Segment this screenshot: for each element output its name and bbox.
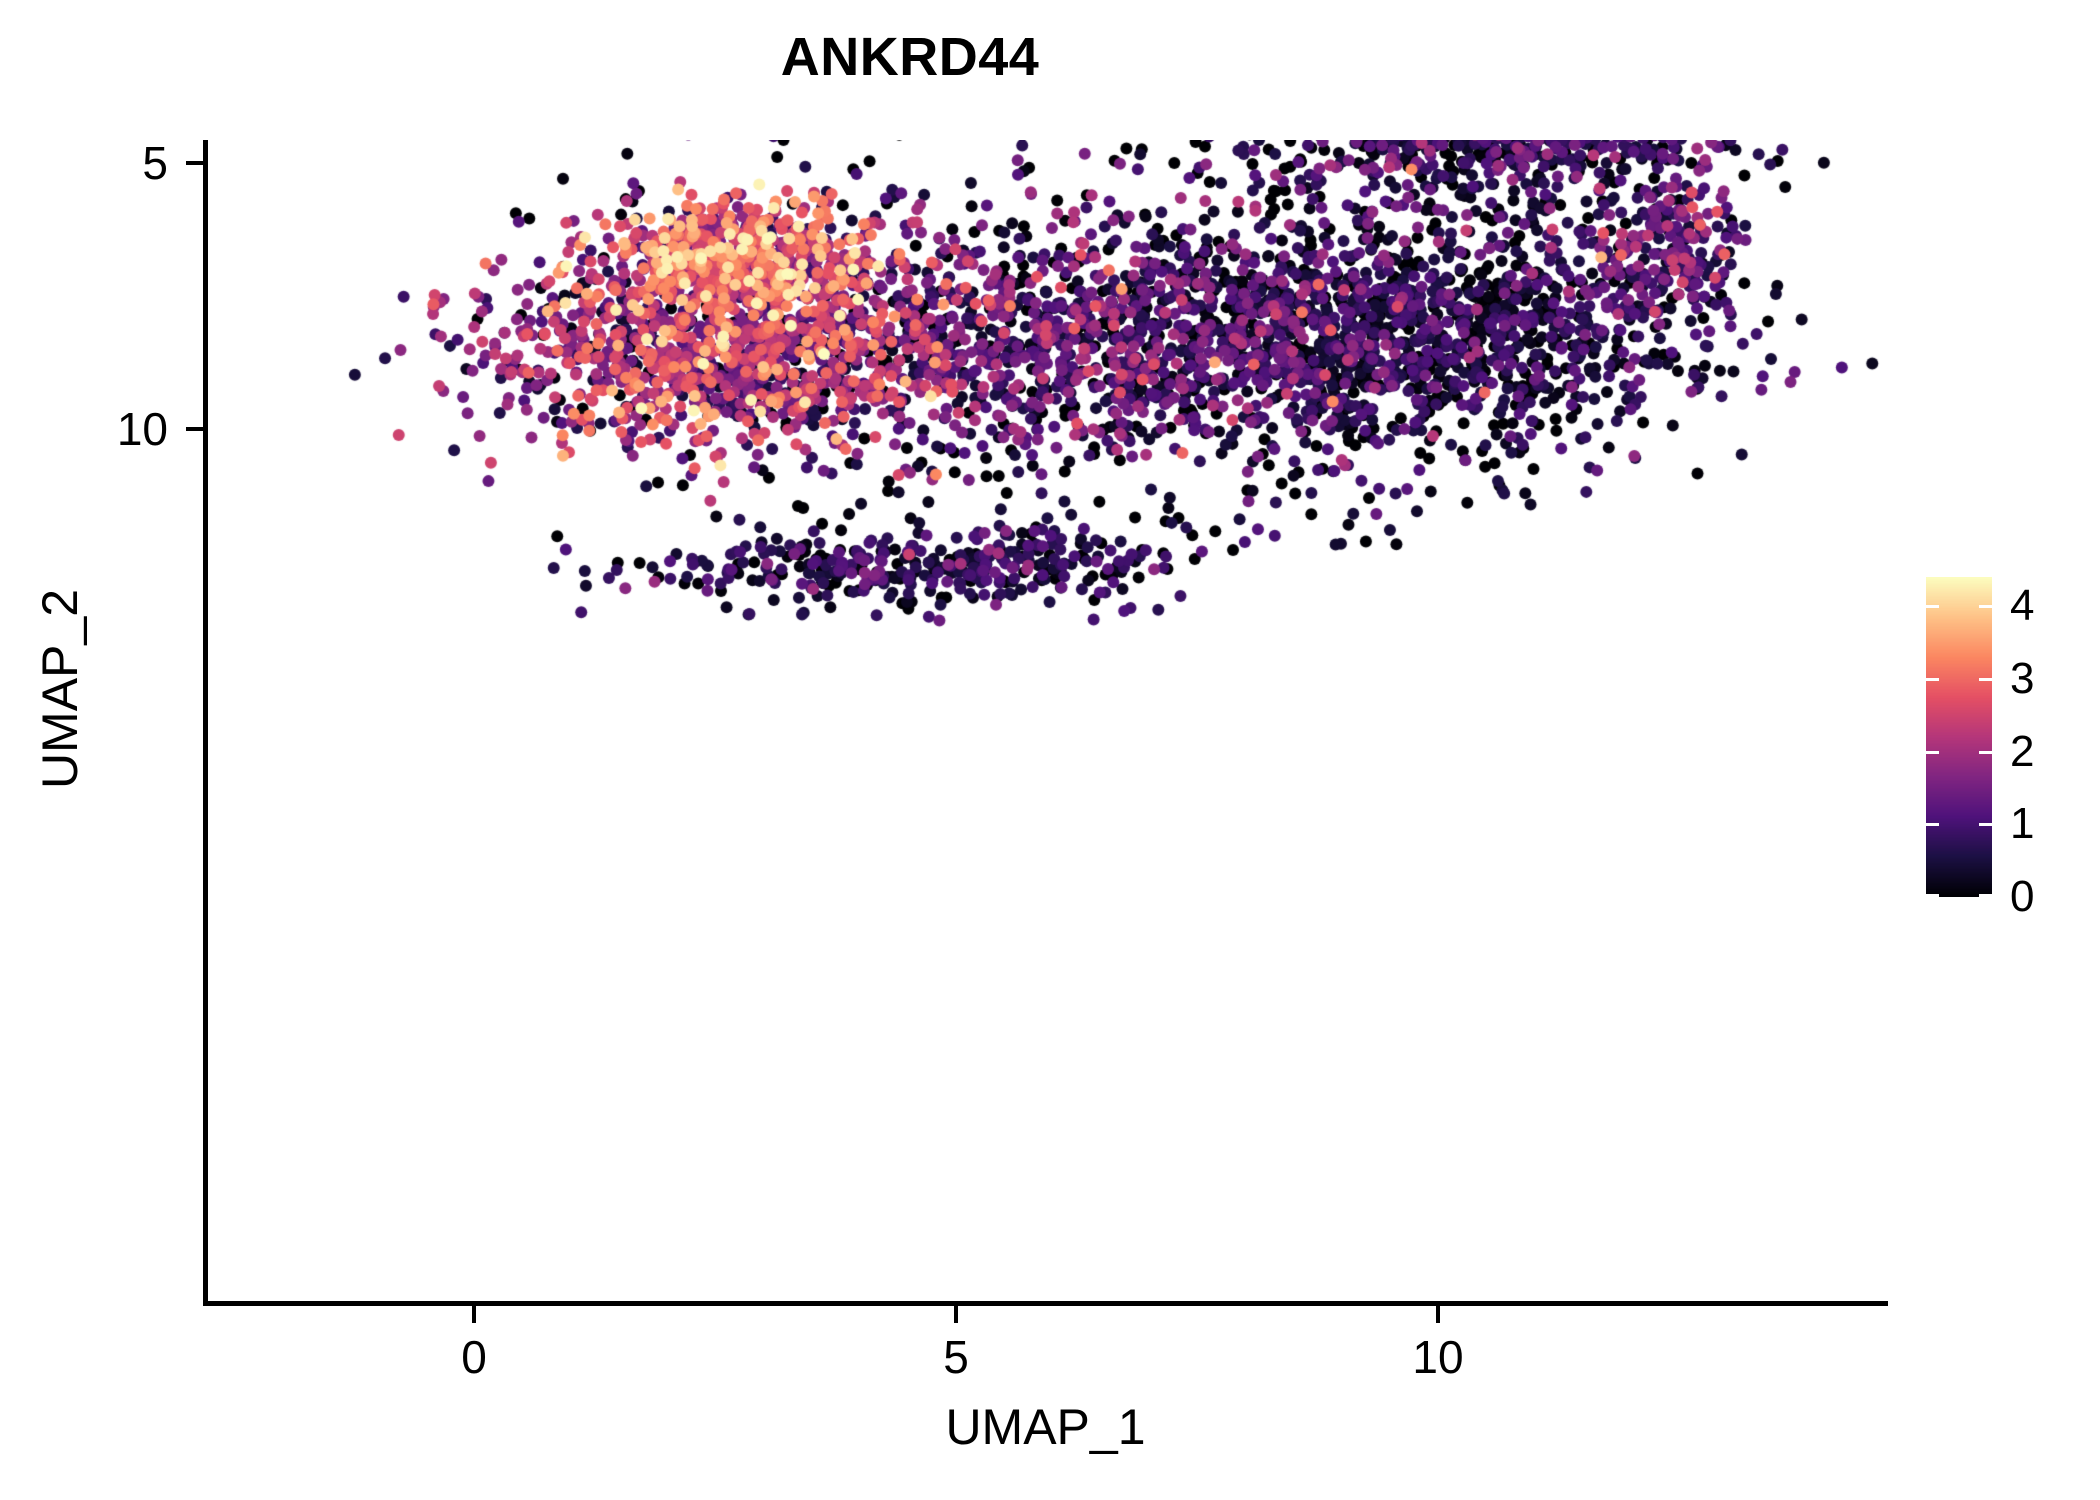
colorbar-tick-4-right: [1979, 605, 1992, 608]
colorbar-tick-4-left: [1926, 605, 1939, 608]
x-axis-line: [203, 1301, 1888, 1306]
colorbar-tick-0-left: [1926, 894, 1939, 897]
feature-plot-figure: ANKRD44 10 5 0 0 5 10 UMAP_1 UMAP_2 4 3 …: [0, 0, 2100, 1500]
colorbar-label-2: 2: [2010, 727, 2034, 777]
y-tick-mark-10: [186, 427, 203, 431]
colorbar-legend: 4 3 2 1 0: [1926, 577, 2076, 907]
colorbar-tick-1-left: [1926, 823, 1939, 826]
colorbar-tick-3-left: [1926, 678, 1939, 681]
colorbar-label-1: 1: [2010, 799, 2034, 849]
y-tick-mark-5: [186, 161, 203, 165]
colorbar-gradient: [1926, 577, 1992, 897]
colorbar-label-4: 4: [2010, 581, 2034, 631]
colorbar-tick-3-right: [1979, 678, 1992, 681]
y-axis-title: UMAP_2: [31, 369, 89, 1009]
scatter-panel: [208, 140, 1888, 1301]
x-axis-title: UMAP_1: [203, 1398, 1888, 1456]
colorbar-label-3: 3: [2010, 654, 2034, 704]
page-title: ANKRD44: [0, 26, 1820, 88]
colorbar-tick-2-left: [1926, 751, 1939, 754]
y-tick-label-5: 5: [0, 136, 168, 190]
x-tick-label-10: 10: [1412, 1330, 1463, 1384]
x-tick-label-5: 5: [943, 1330, 969, 1384]
colorbar-label-0: 0: [2010, 872, 2034, 922]
x-tick-mark-5: [954, 1306, 958, 1323]
colorbar-tick-0-right: [1979, 894, 1992, 897]
scatter-points: [208, 140, 1888, 1301]
x-tick-label-0: 0: [461, 1330, 487, 1384]
colorbar-tick-1-right: [1979, 823, 1992, 826]
x-tick-mark-10: [1436, 1306, 1440, 1323]
colorbar-tick-2-right: [1979, 751, 1992, 754]
x-tick-mark-0: [472, 1306, 476, 1323]
